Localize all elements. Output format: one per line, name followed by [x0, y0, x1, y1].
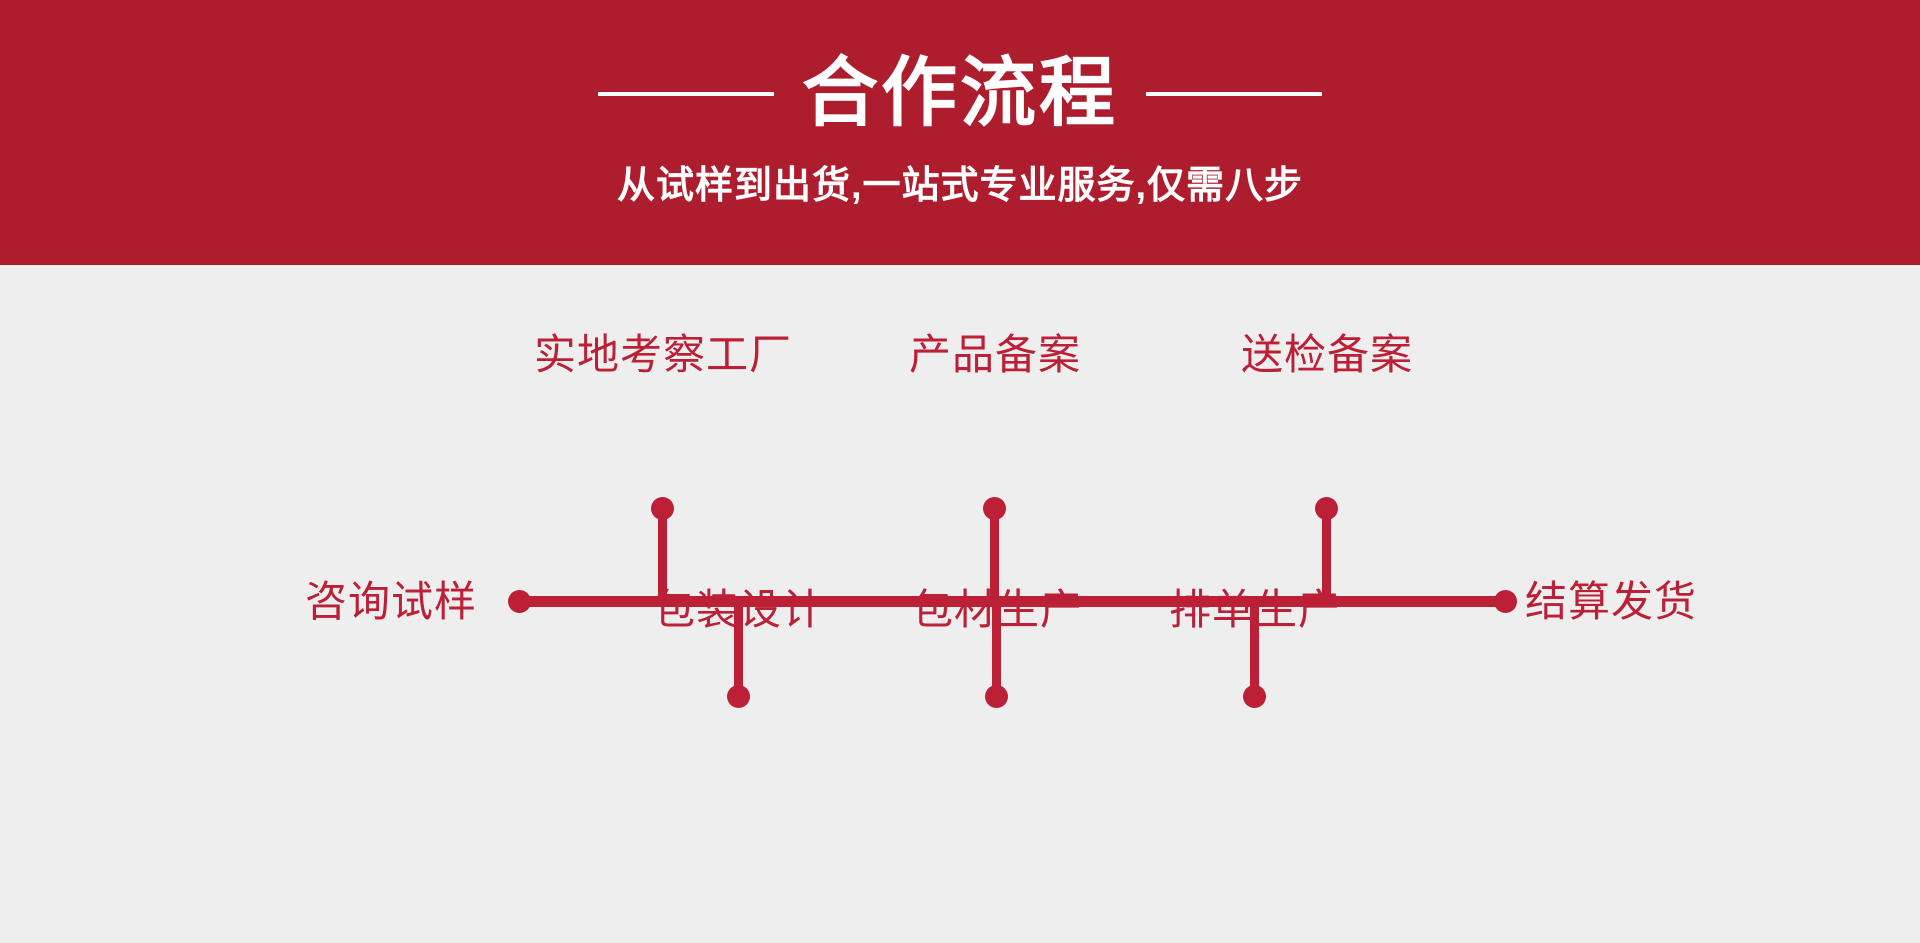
timeline-node-dot-bottom-2-icon [985, 685, 1008, 708]
title-rule-right-icon [1146, 92, 1322, 96]
page-subtitle: 从试样到出货,一站式专业服务,仅需八步 [0, 160, 1920, 212]
timeline-step-label-bottom-3: 排单生产 [1169, 583, 1341, 637]
header-banner: 合作流程 从试样到出货,一站式专业服务,仅需八步 [0, 0, 1920, 265]
timeline-node-dot-top-2-icon [983, 497, 1006, 520]
timeline-start-label: 咨询试样 [305, 575, 477, 629]
process-timeline: 咨询试样 结算发货 实地考察工厂 产品备案 送检备案 包装设计 包材生产 [0, 265, 1920, 943]
banner-title-row: 合作流程 [0, 40, 1920, 148]
timeline-node-dot-top-1-icon [651, 497, 674, 520]
process-timeline-section: 咨询试样 结算发货 实地考察工厂 产品备案 送检备案 包装设计 包材生产 [0, 265, 1920, 943]
timeline-node-dot-bottom-3-icon [1243, 685, 1266, 708]
timeline-end-label: 结算发货 [1525, 575, 1697, 629]
timeline-node-dot-top-3-icon [1315, 497, 1338, 520]
timeline-start-dot-icon [508, 590, 531, 613]
cooperation-process-banner: 合作流程 从试样到出货,一站式专业服务,仅需八步 咨询试样 结算发货 实地考察工… [0, 0, 1920, 943]
timeline-step-label-top-2: 产品备案 [909, 328, 1081, 382]
timeline-step-label-top-1: 实地考察工厂 [534, 328, 792, 382]
title-rule-left-icon [598, 92, 774, 96]
timeline-node-dot-bottom-1-icon [727, 685, 750, 708]
page-title: 合作流程 [802, 44, 1118, 144]
timeline-step-label-top-3: 送检备案 [1241, 328, 1413, 382]
timeline-step-label-bottom-1: 包装设计 [653, 583, 825, 637]
timeline-end-dot-icon [1494, 590, 1517, 613]
timeline-step-label-bottom-2: 包材生产 [911, 583, 1083, 637]
